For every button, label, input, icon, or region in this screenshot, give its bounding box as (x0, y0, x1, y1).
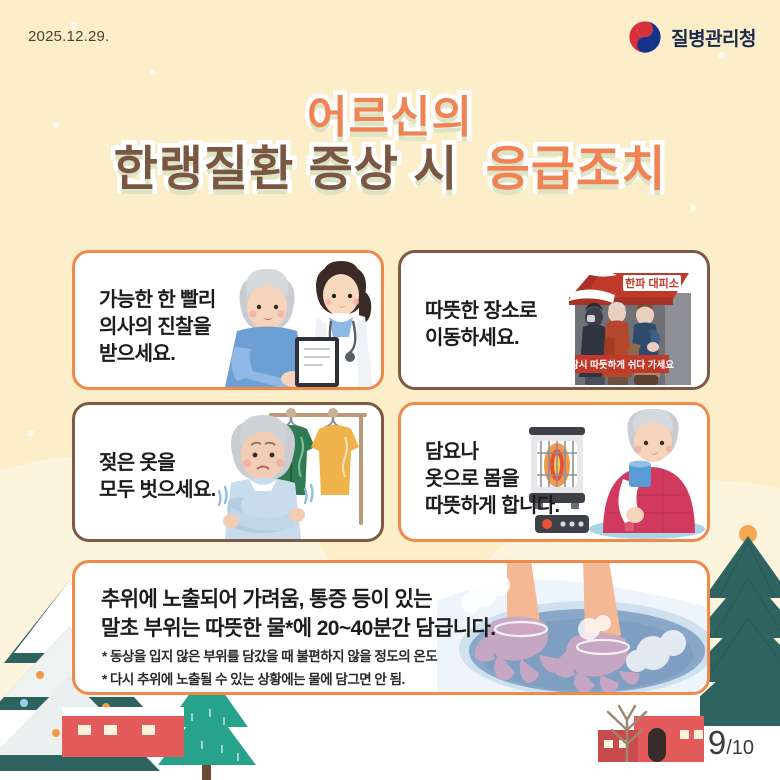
cold-wave-shelter-illustration: 한파 대피소 잠시 따듯하게 쉬다 가세요 (561, 259, 693, 385)
red-house-left (62, 695, 184, 757)
advice-card-see-doctor: 가능한 한 빨리 의사의 진찰을 받으세요. (72, 250, 384, 390)
advice-card-text: 젖은 옷을 모두 벗으세요. (99, 450, 216, 504)
publication-date: 2025.12.29. (28, 28, 109, 45)
advice-card-text: 가능한 한 빨리 의사의 진찰을 받으세요. (99, 287, 216, 367)
page-current: 9 (708, 724, 726, 762)
elderly-patient-with-doctor-illustration (211, 251, 381, 387)
svg-text:한파 대피소: 한파 대피소 (625, 276, 679, 290)
advice-card-move-to-warm-place: 한파 대피소 잠시 따듯하게 쉬다 가세요 따뜻한 (398, 250, 710, 390)
snow-dot (28, 430, 34, 436)
shivering-elderly-with-clothes-rack-illustration (213, 403, 377, 539)
taeguk-icon (628, 20, 662, 54)
agency-logo: 질병관리청 (628, 20, 756, 54)
footnote-temperature: * 동상을 입지 않은 부위를 담갔을 때 불편하지 않을 정도의 온도 (102, 645, 437, 665)
snow-dot (150, 70, 155, 75)
footnote-re-exposure: * 다시 추위에 노출될 수 있는 상황에는 물에 담그면 안 됨. (102, 668, 405, 688)
advice-card-text: 추위에 노출되어 가려움, 통증 등이 있는 말초 부위는 따뜻한 물*에 20… (101, 585, 495, 644)
page-indicator: 9 /10 (708, 724, 754, 762)
snow-dot (690, 205, 696, 211)
title-line-1: 어르신의 (307, 96, 473, 140)
advice-card-text: 따뜻한 장소로 이동하세요. (425, 298, 537, 352)
bare-tree (592, 700, 662, 762)
title-line-2b: 응급조치 (486, 146, 667, 194)
page-total: /10 (726, 737, 754, 760)
svg-text:잠시 따듯하게 쉬다 가세요: 잠시 따듯하게 쉬다 가세요 (570, 359, 674, 371)
page-title: 어르신의 한랭질환 증상 시 응급조치 (0, 96, 780, 200)
agency-name: 질병관리청 (671, 24, 756, 51)
title-line-2a: 한랭질환 증상 시 (114, 146, 459, 194)
advice-card-soak-in-warm-water: 추위에 노출되어 가려움, 통증 등이 있는 말초 부위는 따뜻한 물*에 20… (72, 560, 710, 695)
advice-card-text: 담요나 옷으로 몸을 따뜻하게 합니다. (425, 439, 560, 519)
advice-card-remove-wet-clothes: 젖은 옷을 모두 벗으세요. (72, 402, 384, 542)
advice-card-warm-with-blanket: 담요나 옷으로 몸을 따뜻하게 합니다. (398, 402, 710, 542)
